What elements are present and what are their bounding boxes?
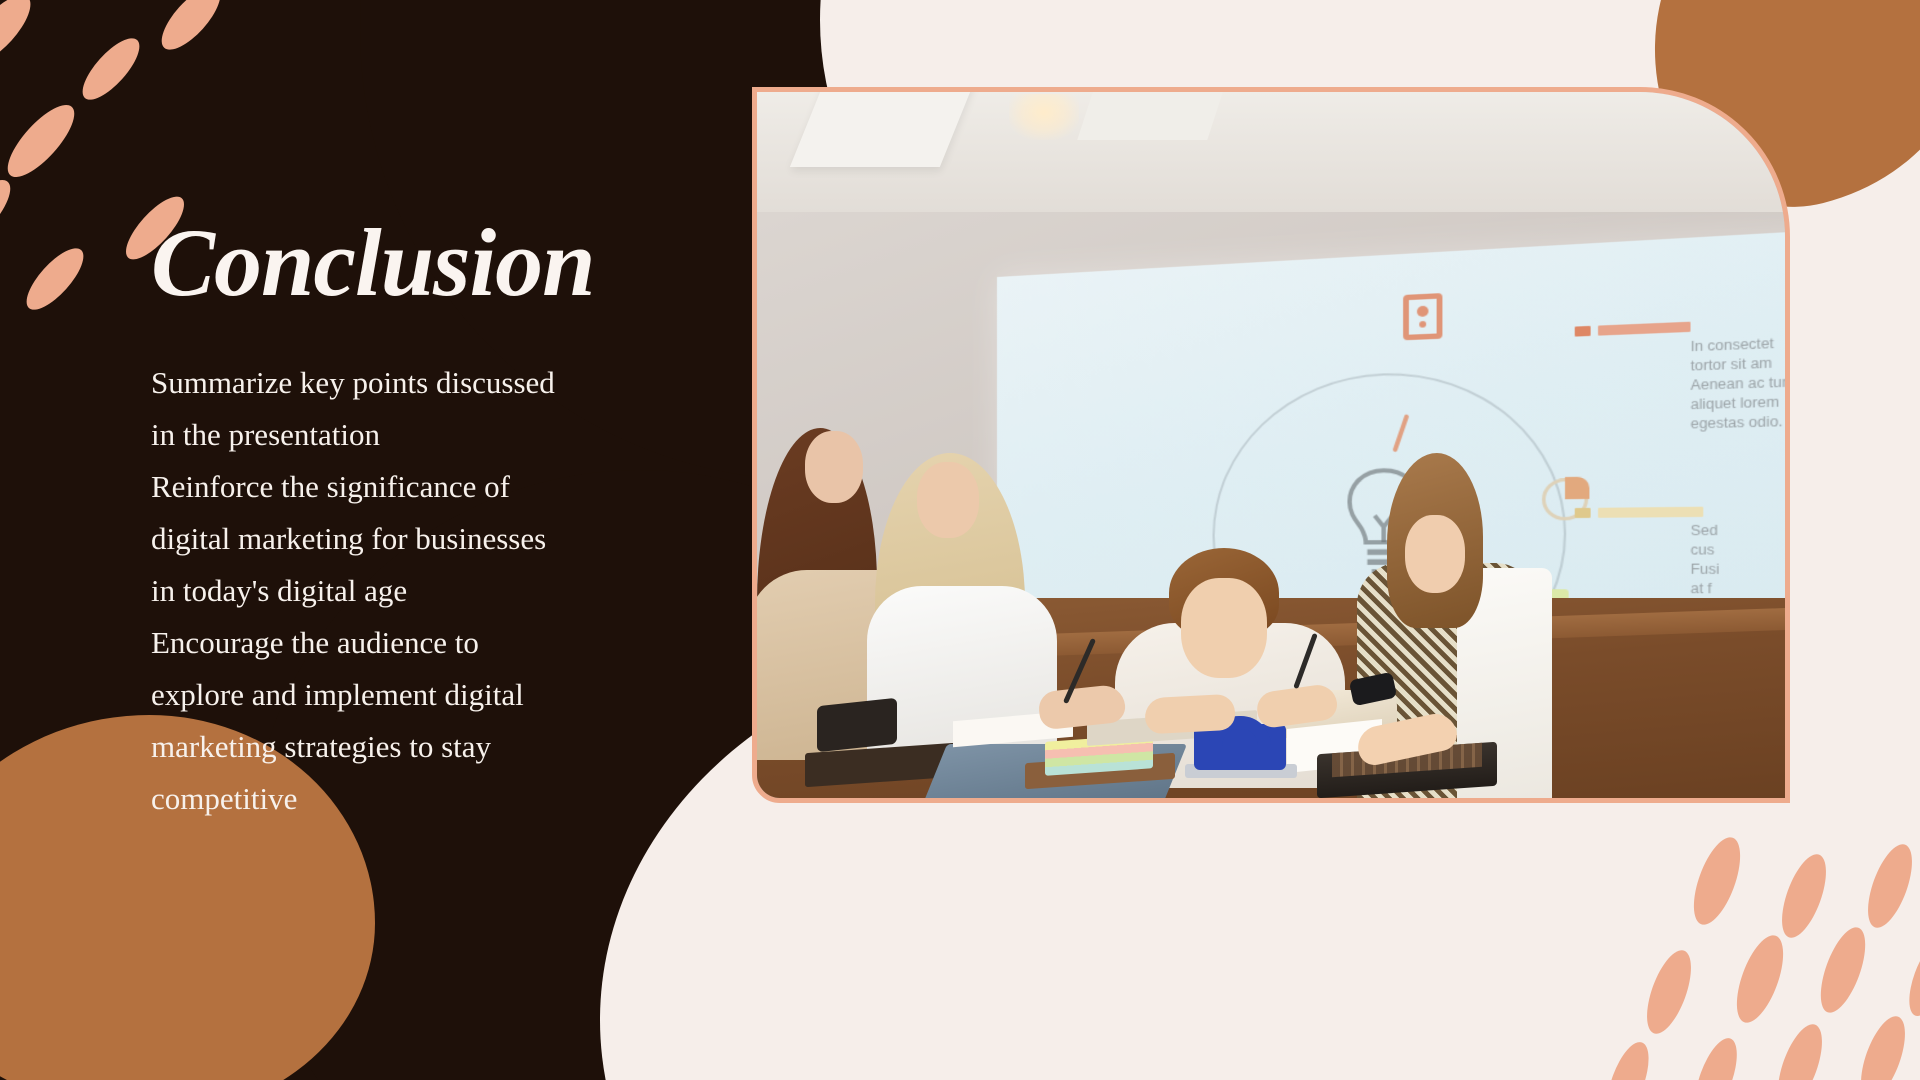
photo-ceiling-beam	[1077, 92, 1226, 140]
screen-bar-red	[1598, 322, 1691, 336]
slide-body-line: Reinforce the significance of	[151, 461, 731, 513]
slide-body-line: in the presentation	[151, 409, 731, 461]
slide-body-line: Encourage the audience to	[151, 617, 731, 669]
screen-bar-yellow-small	[1575, 508, 1591, 518]
photo-person-face	[1181, 578, 1267, 678]
photo-person-face	[805, 431, 863, 503]
slide-body-line: in today's digital age	[151, 565, 731, 617]
meeting-room-photo: STE In consectet tortor sit am Aenean ac…	[757, 92, 1785, 798]
screen-paragraph: In consectet tortor sit am Aenean ac tur…	[1691, 330, 1785, 434]
photo-ceiling-lamp	[1009, 94, 1079, 140]
photo-desk-phone	[817, 698, 897, 752]
photo-person-face	[917, 462, 979, 538]
slide-body-line: marketing strategies to stay	[151, 721, 731, 773]
slide-body-line: explore and implement digital	[151, 669, 731, 721]
slide-body-line: competitive	[151, 773, 731, 825]
screen-bar-red-small	[1575, 326, 1591, 337]
slide-body-text: Summarize key points discussedin the pre…	[151, 357, 731, 825]
slide-photo-frame: STE In consectet tortor sit am Aenean ac…	[752, 87, 1790, 803]
photo-person-hand	[1144, 694, 1236, 735]
presentation-slide: STE In consectet tortor sit am Aenean ac…	[0, 0, 1920, 1080]
slide-body-line: digital marketing for businesses	[151, 513, 731, 565]
photo-person-face	[1405, 515, 1465, 593]
screen-bar-yellow	[1598, 507, 1703, 518]
page-title: Conclusion	[151, 215, 731, 311]
slide-body-line: Summarize key points discussed	[151, 357, 731, 409]
person-card-icon	[1403, 293, 1442, 340]
slide-text-column: Conclusion Summarize key points discusse…	[151, 215, 731, 825]
